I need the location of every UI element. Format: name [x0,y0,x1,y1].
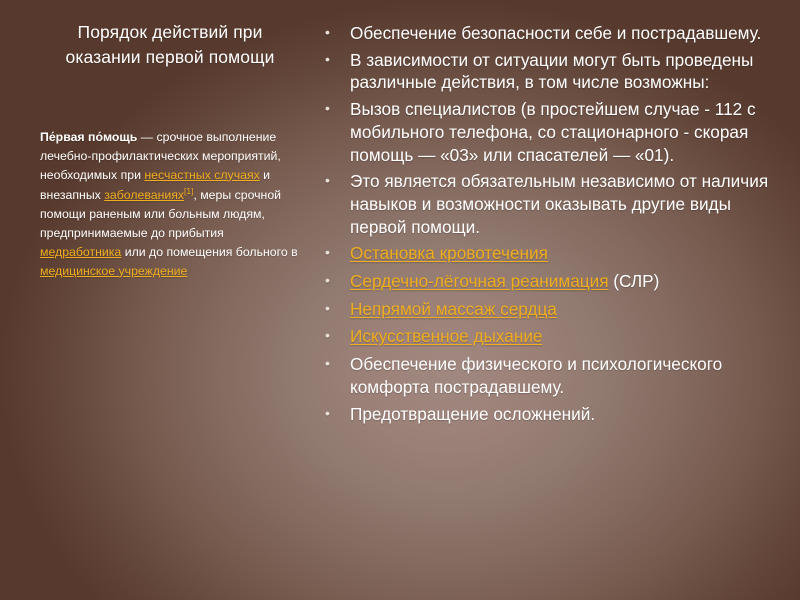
definition-term: Пе́рвая по́мощь [40,130,137,144]
bullet-link[interactable]: Сердечно-лёгочная реанимация [350,271,609,291]
bullet-item: Остановка кровотечения [320,242,790,265]
bullet-text: Обеспечение безопасности себе и пострада… [350,23,761,43]
bullet-item: Вызов специалистов (в простейшем случае … [320,98,790,166]
slide-title: Порядок действий при оказании первой пом… [20,20,320,71]
bullet-link-suffix: (СЛР) [609,271,660,291]
bullet-text: Это является обязательным независимо от … [350,171,768,236]
bullet-item: Обеспечение физического и психологическо… [320,353,790,398]
bullet-item: Искусственное дыхание [320,325,790,348]
bullet-text: Вызов специалистов (в простейшем случае … [350,99,756,164]
bullet-link[interactable]: Искусственное дыхание [350,326,543,346]
bullet-item: Предотвращение осложнений. [320,403,790,426]
bullet-item: Сердечно-лёгочная реанимация (СЛР) [320,270,790,293]
slide-title-line-1: Порядок действий при [78,22,263,42]
link-zabolevaniyah[interactable]: заболеваниях [104,188,184,202]
reference-superscript[interactable]: [1] [184,185,193,198]
definition-paragraph: Пе́рвая по́мощь — срочное выполнение леч… [40,128,308,280]
slide-canvas: Порядок действий при оказании первой пом… [0,0,800,600]
definition-text-part-4: или до помещения больного в [121,245,297,259]
bullet-list: Обеспечение безопасности себе и пострада… [320,22,790,429]
bullet-item: Это является обязательным независимо от … [320,170,790,238]
bullet-link[interactable]: Непрямой массаж сердца [350,299,557,319]
bullet-text: В зависимости от ситуации могут быть про… [350,50,753,93]
bullet-text: Предотвращение осложнений. [350,404,595,424]
bullet-item: В зависимости от ситуации могут быть про… [320,49,790,94]
link-neschastnyh-sluchayah[interactable]: несчастных случаях [144,168,259,182]
bullet-item: Обеспечение безопасности себе и пострада… [320,22,790,45]
link-meditsinskoe-uchrezhdenie[interactable]: медицинское учреждение [40,264,187,278]
bullet-link[interactable]: Остановка кровотечения [350,243,548,263]
link-medrabotnika[interactable]: медработника [40,245,121,259]
bullet-item: Непрямой массаж сердца [320,298,790,321]
bullet-text: Обеспечение физического и психологическо… [350,354,722,397]
slide-title-line-2: оказании первой помощи [66,47,275,67]
